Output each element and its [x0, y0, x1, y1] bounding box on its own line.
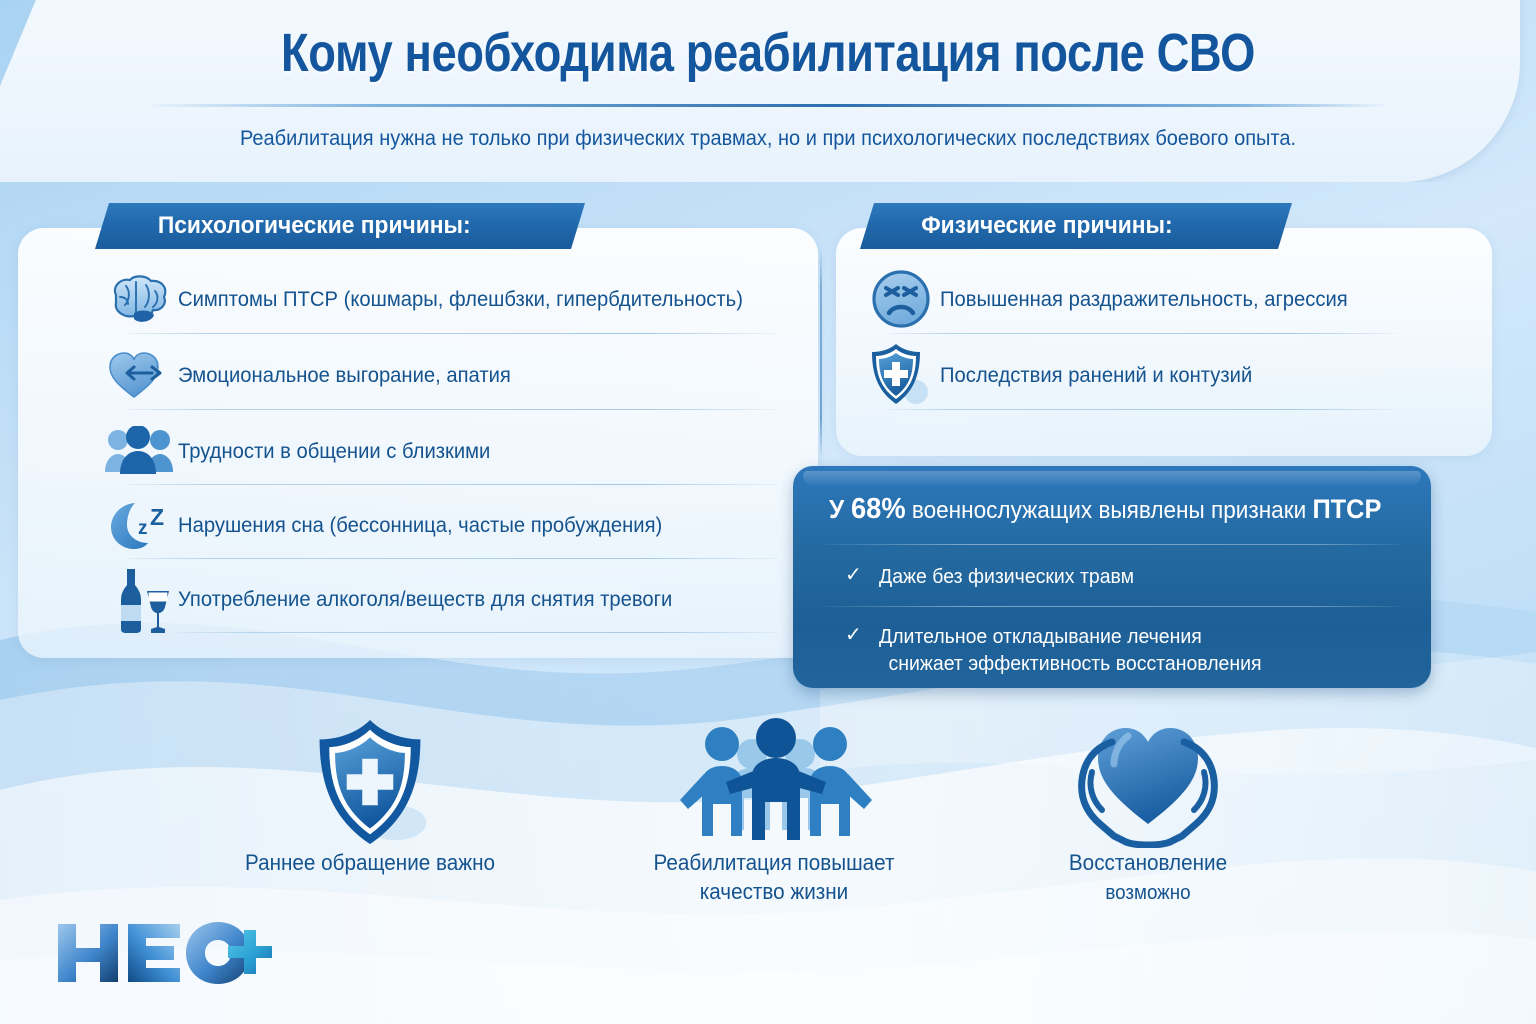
list-item-phys-2[interactable]: Последствия ранений и контузий [862, 344, 1272, 406]
list-item-psych-1[interactable]: Симптомы ПТСР (кошмары, флешбзки, гиперб… [100, 268, 779, 330]
physical-causes-banner: Физические причины: [860, 203, 1292, 249]
separator [128, 484, 778, 485]
list-item-phys-1[interactable]: Повышенная раздражительность, агрессия [862, 268, 1374, 330]
list-item-psych-2-label: Эмоциональное выгорание, апатия [178, 363, 511, 388]
list-item-psych-3[interactable]: Трудности в общении с близкими [100, 420, 510, 482]
brain-icon [100, 268, 178, 330]
stats-prefix: У [829, 494, 851, 524]
stats-percent: 68% [851, 493, 906, 525]
physical-causes-banner-label: Физические причины: [868, 212, 1173, 240]
header-divider [152, 104, 1384, 107]
statistics-item-1-label: Даже без физических травм [879, 563, 1134, 590]
check-icon: ✓ [845, 623, 879, 648]
benefit-3-line2: возможно [1105, 882, 1190, 904]
list-item-psych-5-label: Употребление алкоголя/веществ для снятия… [178, 587, 672, 612]
svg-text:z: z [138, 518, 148, 539]
shield-cross-icon [862, 344, 940, 406]
alcohol-icon [100, 568, 178, 630]
list-item-psych-1-label: Симптомы ПТСР (кошмары, флешбзки, гиперб… [178, 287, 743, 312]
benefit-3[interactable]: Восстановление возможно [988, 712, 1308, 906]
list-item-psych-4[interactable]: z Z Нарушения сна (бессонница, частые пр… [100, 494, 693, 556]
shield-cross-icon [210, 718, 530, 848]
benefit-1-label: Раннее обращение важно [220, 848, 521, 877]
page-subtitle: Реабилитация нужна не только при физичес… [54, 126, 1482, 151]
separator [890, 333, 1396, 334]
separator [128, 409, 778, 410]
benefit-2-line2: качество жизни [700, 879, 848, 904]
separator [890, 409, 1396, 410]
stats-headline-rest: военнослужащих выявлены признаки [906, 497, 1313, 524]
infographic-canvas: Кому необходима реабилитация после СВО Р… [0, 0, 1536, 1024]
benefit-3-label: Восстановление возможно [998, 848, 1299, 906]
separator [128, 333, 778, 334]
list-item-psych-4-label: Нарушения сна (бессонница, частые пробуж… [178, 513, 662, 538]
benefit-3-line1: Восстановление [1069, 850, 1227, 875]
column-divider [820, 248, 822, 460]
benefit-1-line1: Раннее обращение важно [245, 850, 495, 875]
benefit-2[interactable]: Реабилитация повышает качество жизни [614, 712, 934, 906]
statistics-item-2-label: Длительное откладывание лечения снижает … [879, 623, 1262, 677]
separator [128, 558, 778, 559]
list-item-psych-3-label: Трудности в общении с близкими [178, 439, 490, 464]
psychological-causes-banner: Психологические причины: [95, 203, 585, 249]
group-people-icon [614, 712, 934, 848]
statistics-panel: У 68% военнослужащих выявлены признаки П… [793, 466, 1431, 688]
benefit-2-label: Реабилитация повышает качество жизни [624, 848, 925, 906]
statistics-item-1: ✓ Даже без физических травм [845, 563, 1147, 590]
svg-text:Z: Z [150, 504, 164, 530]
statistics-item-2-line2: снижает эффективность восстановления [889, 650, 1262, 677]
physical-causes-card [836, 228, 1492, 456]
check-icon: ✓ [845, 563, 879, 588]
logo[interactable]: НЕО [56, 918, 280, 993]
statistics-divider [825, 606, 1399, 607]
list-item-psych-5[interactable]: Употребление алкоголя/веществ для снятия… [100, 568, 704, 630]
moon-sleep-icon: z Z [100, 494, 178, 556]
people-icon [100, 420, 178, 482]
angry-face-icon [862, 268, 940, 330]
benefit-2-line1: Реабилитация повышает [654, 850, 895, 875]
benefit-1[interactable]: Раннее обращение важно [210, 718, 530, 877]
heart-icon [100, 344, 178, 406]
list-item-phys-2-label: Последствия ранений и контузий [940, 363, 1252, 388]
statistics-item-2-line1: Длительное откладывание лечения [879, 625, 1202, 648]
statistics-item-2: ✓ Длительное откладывание лечения снижае… [845, 623, 1282, 677]
psychological-causes-banner-label: Психологические причины: [105, 212, 471, 240]
list-item-psych-2[interactable]: Эмоциональное выгорание, апатия [100, 344, 532, 406]
separator [178, 632, 778, 633]
statistics-headline: У 68% военнослужащих выявлены признаки П… [829, 493, 1370, 526]
stats-headline-tail: ПТСР [1312, 494, 1381, 524]
hands-heart-icon [988, 712, 1308, 848]
list-item-phys-1-label: Повышенная раздражительность, агрессия [940, 287, 1348, 312]
statistics-divider [825, 544, 1399, 545]
page-title: Кому необходима реабилитация после СВО [123, 22, 1413, 84]
